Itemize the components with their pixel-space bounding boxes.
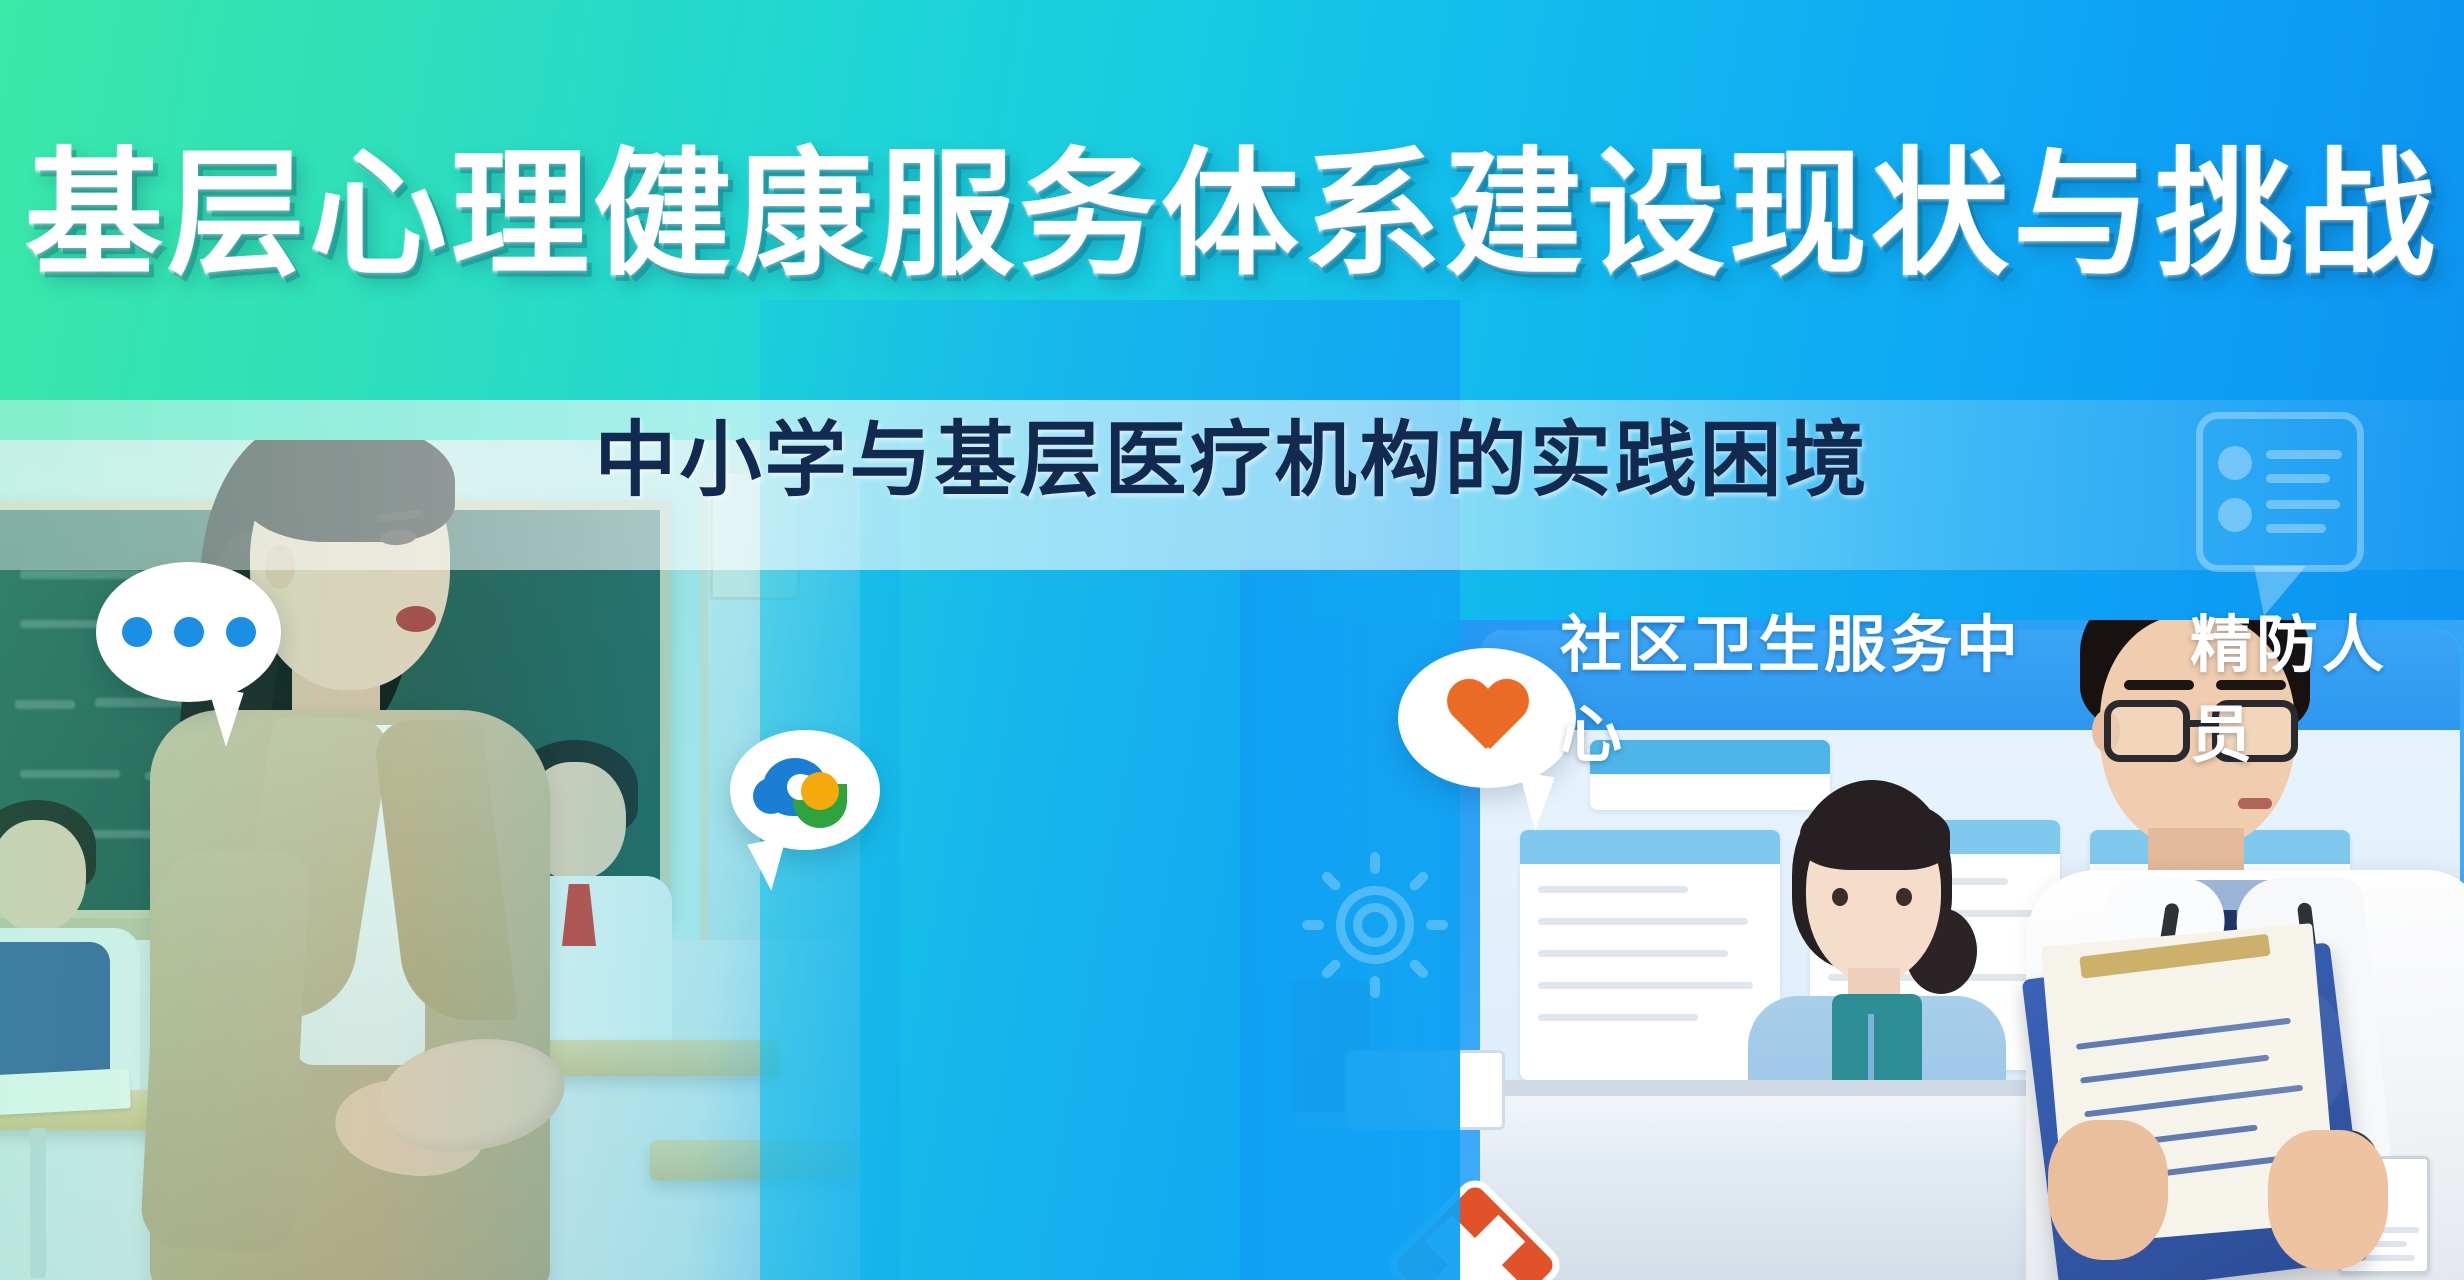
heart-bubble (1398, 648, 1576, 788)
gov-cloud-logo-icon (763, 750, 847, 830)
student-desk-right (650, 1140, 860, 1180)
heart-icon (1446, 681, 1528, 755)
page-subtitle: 中小学与基层医疗机构的实践困境 (0, 418, 2464, 504)
label-psych-prevention-staff: 精防人员 (2190, 640, 2450, 728)
doctor-hand (2268, 1130, 2388, 1270)
desk-box (1345, 1050, 1505, 1130)
gov-cloud-logo-bubble (730, 730, 880, 850)
speech-bubble-dots-icon (96, 562, 281, 702)
poster-canvas: 基层心理健康服务体系建设现状与挑战 中小学与基层医疗机构的实践困境 社区卫生服务… (0, 0, 2464, 1280)
teacher-figure (80, 440, 540, 1280)
label-community-health-center: 社区卫生服务中心 (1560, 640, 2080, 728)
page-title: 基层心理健康服务体系建设现状与挑战 (0, 146, 2464, 284)
doctor-hand (2048, 1120, 2168, 1260)
classroom-scene (0, 440, 860, 1280)
